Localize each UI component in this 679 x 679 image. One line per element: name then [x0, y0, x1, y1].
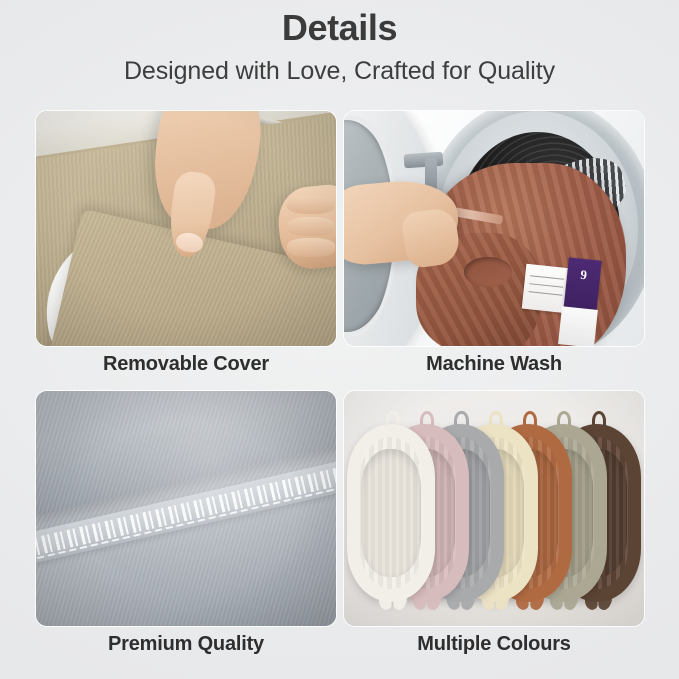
nest-bow-tie [482, 592, 508, 619]
nest-bow-tie [447, 592, 473, 619]
photo-premium-quality [36, 391, 336, 626]
nest-bow-tie [585, 592, 611, 619]
feature-caption-premium-quality: Premium Quality [36, 626, 336, 663]
page-subtitle: Designed with Love, Crafted for Quality [0, 56, 679, 87]
feature-image-machine-wash[interactable]: 9 [344, 111, 644, 346]
white-tag-lower [558, 307, 598, 346]
colour-swatch-row [347, 424, 641, 603]
feature-image-multiple-colours[interactable] [344, 391, 644, 626]
tag-text-line [531, 275, 564, 280]
feature-cell-machine-wash[interactable]: 9 Machine Wash [344, 111, 644, 383]
feature-cell-multiple-colours[interactable]: Multiple Colours [344, 391, 644, 663]
tag-text-line [529, 291, 562, 296]
photo-vignette [36, 391, 336, 626]
feature-caption-machine-wash: Machine Wash [344, 346, 644, 383]
brand-logo-number: 9 [580, 267, 588, 284]
feature-grid: Removable Cover [36, 111, 644, 663]
feature-cell-premium-quality[interactable]: Premium Quality [36, 391, 336, 663]
colour-swatch-nest[interactable] [347, 424, 435, 603]
feature-image-removable-cover[interactable] [36, 111, 336, 346]
photo-multiple-colours [344, 391, 644, 626]
feature-caption-multiple-colours: Multiple Colours [344, 626, 644, 663]
photo-machine-wash: 9 [344, 111, 644, 346]
feature-cell-removable-cover[interactable]: Removable Cover [36, 111, 336, 383]
feature-caption-removable-cover: Removable Cover [36, 346, 336, 383]
photo-removable-cover [36, 111, 336, 346]
nest-bow-tie [379, 592, 405, 619]
cover-opening [464, 257, 512, 288]
nest-mattress [361, 449, 421, 578]
details-panel: Details Designed with Love, Crafted for … [0, 0, 679, 679]
page-title: Details [0, 7, 679, 49]
page-header: Details Designed with Love, Crafted for … [0, 0, 679, 88]
tag-text-line [530, 283, 563, 288]
nest-bow-tie [516, 592, 542, 619]
feature-image-premium-quality[interactable] [36, 391, 336, 626]
photo-vignette [36, 111, 336, 346]
nest-bow-tie [413, 592, 439, 619]
nest-bow-tie [550, 592, 576, 619]
